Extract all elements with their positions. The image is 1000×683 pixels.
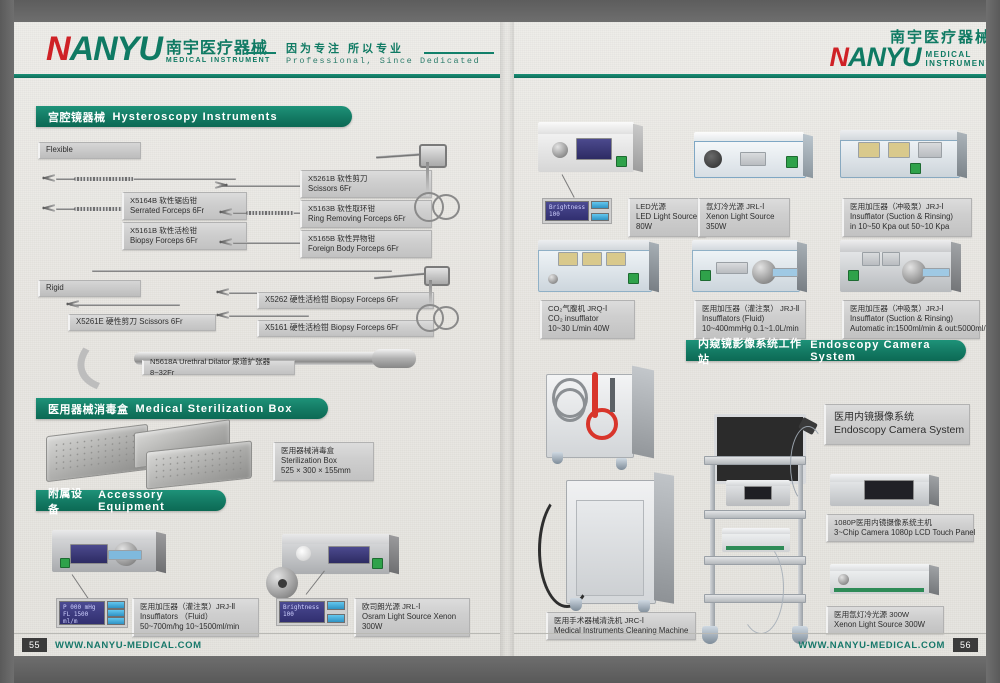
caption-foreign-cn: X5165B 软性异物钳: [308, 234, 425, 244]
section-hysteroscopy-en: Hysteroscopy Instruments: [113, 111, 278, 123]
caption-insufflator-fluid-2: 医用加压器（灌注泵） JRJ-Ⅱ Insufflators (Fluid) 10…: [694, 300, 806, 339]
rigid-long-shaft: [92, 270, 392, 272]
caption-rd4-cn: CO₂气腹机 JRQ-Ⅰ: [548, 304, 628, 314]
caption-rd6-en: Insufflator (Suction & Rinsing): [850, 314, 973, 324]
light-guide-port: [278, 579, 287, 588]
scope-cable: [790, 426, 826, 504]
caption-acc2-spec: 300W: [362, 622, 463, 632]
caption-rd2-en: Xenon Light Source: [706, 212, 783, 222]
slogan-english: Professional, Since Dedicated: [286, 56, 480, 66]
logo-anyu-letters-right: ANYU: [848, 45, 921, 70]
caption-ring-removing: X5163B 软性取环钳 Ring Removing Forceps 6Fr: [300, 200, 432, 228]
caption-foreign-en: Foreign Body Forceps 6Fr: [308, 244, 425, 254]
device-led-light-source: [538, 122, 634, 172]
slogan-rule-right: [424, 52, 494, 54]
tray-perforation-pattern: [53, 432, 141, 474]
readout-pump-lcd: P 000 mHgFL 1500 ml/m: [59, 601, 105, 625]
caption-rd5-cn: 医用加压器（灌注泵） JRJ-Ⅱ: [702, 304, 799, 314]
section-accessory-cn: 附属设备: [48, 485, 91, 517]
readout-pump-keys[interactable]: [107, 601, 125, 625]
catalog-page: N ANYU 南宇医疗器械 MEDICAL INSTRUMENT 因为专注 所以…: [0, 0, 1000, 683]
logo-n-letter-right: N: [830, 45, 849, 70]
instrument-jaw-ring: [219, 208, 233, 217]
caption-biopsy-x5161-text: X5161 硬性活检钳 Biopsy Forceps 6Fr: [265, 323, 398, 333]
caption-acc1-spec: 50~700m/hg 10~1500ml/min: [140, 622, 252, 632]
caption-dilator-text: N5618A Urethral Dilator 尿道扩张器 8~32Fr: [150, 357, 288, 377]
caption-rd4-spec: 10~30 L/min 40W: [548, 324, 628, 334]
callout-line-2: [306, 571, 325, 595]
instrument-jaw-scissors-flex: [214, 181, 228, 190]
readout-brightness-keys[interactable]: [327, 601, 345, 623]
page-number-right: 56: [953, 638, 978, 652]
section-header-accessory: 附属设备 Accessory Equipment: [36, 490, 226, 511]
caption-insufflator-suction-1: 医用加压器（冲吸泵）JRJ-Ⅰ Insufflator (Suction & R…: [842, 198, 972, 237]
caption-insufflator-fluid: 医用加压器（灌注泵）JRJ-Ⅱ Insufflators （Fluid） 50~…: [132, 598, 259, 637]
caption-rd4-en: CO₂ insufflator: [548, 314, 628, 324]
caption-scissors-flex-en: Scissors 6Fr: [308, 184, 425, 194]
caption-xenon-light-source: 氙灯冷光源 JRL-Ⅰ Xenon Light Source 350W: [698, 198, 790, 237]
instrument-jaw-biopsy-x5262: [216, 288, 230, 297]
caption-biopsy-x5262-text: X5262 硬性活检钳 Biopsy Forceps 6Fr: [265, 295, 398, 305]
caption-biopsy-flex-cn: X5161B 软性活检钳: [130, 226, 240, 236]
section-header-hysteroscopy: 宫腔镜器械 Hysteroscopy Instruments: [36, 106, 352, 127]
caption-biopsy-x5262: X5262 硬性活检钳 Biopsy Forceps 6Fr: [257, 292, 434, 309]
caption-chip-cn: 1080P医用内镜摄像系统主机: [834, 518, 967, 528]
caption-light-en: Xenon Light Source 300W: [834, 620, 937, 630]
page-spread: N ANYU 南宇医疗器械 MEDICAL INSTRUMENT 因为专注 所以…: [14, 22, 986, 656]
instrument-jaw-scissors-rigid: [66, 300, 80, 309]
page-gutter: [500, 22, 514, 656]
readout-pump: P 000 mHgFL 1500 ml/m: [56, 598, 128, 628]
device-insufflator-fluid: [52, 530, 157, 572]
caption-sterilization-box: 医用器械消毒盒 Sterilization Box 525 × 300 × 15…: [273, 442, 374, 481]
logo-subtitle-line2: INSTRUMENT: [926, 59, 986, 68]
caption-rd5-spec: 10~400mmHg 0.1~1.0L/min: [702, 324, 799, 334]
callout-line-1: [72, 574, 90, 599]
readout-led-lcd: Brightness 100: [545, 201, 589, 221]
caption-ring-cn: X5163B 软性取环钳: [308, 204, 425, 214]
caption-insufflator-suction-2: 医用加压器（冲吸泵）JRJ-Ⅰ Insufflator (Suction & R…: [842, 300, 980, 339]
device-insufflator-fluid-2: [692, 240, 798, 292]
caption-rd5-en: Insufflators (Fluid): [702, 314, 799, 324]
caption-sterilization-spec: 525 × 300 × 155mm: [281, 466, 367, 476]
instrument-shaft-biopsy-x5161: [229, 315, 309, 317]
caption-rd1-en: LED Light Source: [636, 212, 699, 222]
caption-rd1-spec: 80W: [636, 222, 699, 232]
caption-xenon-300w: 医用氙灯冷光源 300W Xenon Light Source 300W: [826, 606, 944, 634]
device-osram-light-source: [282, 534, 390, 574]
section-header-sterilization: 医用器械消毒盒 Medical Sterilization Box: [36, 398, 328, 419]
caption-foreign-body: X5165B 软性异物钳 Foreign Body Forceps 6Fr: [300, 230, 432, 258]
caption-scissors-flex-cn: X5261B 软性剪刀: [308, 174, 425, 184]
caption-light-cn: 医用氙灯冷光源 300W: [834, 610, 937, 620]
caption-camera-system-main: 医用内镜摄像系统 Endoscopy Camera System: [824, 404, 970, 445]
logo-subtitle: MEDICAL INSTRUMENT: [166, 57, 271, 64]
caption-acc2-en: Osram Light Source Xenon: [362, 612, 463, 622]
tray-base-perforation: [153, 447, 245, 483]
caption-rd3-spec: in 10~50 Kpa out 50~10 Kpa: [850, 222, 965, 232]
section-header-camera-system: 内窥镜影像系统工作站 Endoscopy Camera System: [686, 340, 966, 361]
caption-cam-main-en: Endoscopy Camera System: [834, 424, 961, 438]
brand-logo-left: N ANYU 南宇医疗器械 MEDICAL INSTRUMENT: [46, 34, 271, 64]
right-page-header: 南宇医疗器械 N ANYU MEDICAL INSTRUMENT: [514, 22, 986, 74]
caption-rd2-spec: 350W: [706, 222, 783, 232]
footer-url-left[interactable]: WWW.NANYU-MEDICAL.COM: [55, 640, 202, 651]
tag-rigid: Rigid: [38, 280, 141, 297]
device-xenon-light-source: [694, 132, 804, 178]
frame-bottom: [0, 656, 1000, 683]
section-camera-cn: 内窥镜影像系统工作站: [698, 335, 803, 367]
caption-rd2-cn: 氙灯冷光源 JRL-Ⅰ: [706, 202, 783, 212]
caption-biopsy-x5161: X5161 硬性活检钳 Biopsy Forceps 6Fr: [257, 320, 434, 337]
sterilization-tray-closed: [46, 424, 148, 483]
caption-sterilization-en: Sterilization Box: [281, 456, 367, 466]
cart-light-cable: [738, 542, 784, 634]
readout-led-keys[interactable]: [591, 201, 609, 221]
cart-camera-unit: [726, 480, 790, 506]
logo-chinese: 南宇医疗器械: [166, 41, 271, 57]
header-rule-right: [514, 74, 986, 78]
callout-line-3: [562, 174, 575, 197]
section-accessory-en: Accessory Equipment: [98, 489, 226, 513]
caption-rd3-en: Insufflator (Suction & Rinsing): [850, 212, 965, 222]
instrument-coil-ring: [246, 211, 294, 215]
caption-rd6-cn: 医用加压器（冲吸泵）JRJ-Ⅰ: [850, 304, 973, 314]
section-hysteroscopy-cn: 宫腔镜器械: [48, 109, 106, 125]
caption-co2-insufflator: CO₂气腹机 JRQ-Ⅰ CO₂ insufflator 10~30 L/min…: [540, 300, 635, 339]
instrument-jaw-biopsy-x5161: [216, 311, 230, 320]
tag-rigid-label: Rigid: [46, 283, 64, 293]
caption-cleaning-en: Medical Instruments Cleaning Machine: [554, 626, 689, 636]
caption-rd6-spec: Automatic in:1500ml/min & out:5000ml/min: [850, 324, 973, 334]
device-xenon-300w: [830, 564, 930, 594]
caption-serrated-cn: X5164B 软性锯齿钳: [130, 196, 240, 206]
device-insufflator-suction-2: [840, 240, 952, 292]
readout-led-brightness: Brightness 100: [542, 198, 612, 224]
caption-cleaning-cn: 医用手术器械清洗机 JRC-Ⅰ: [554, 616, 689, 626]
caption-osram-light: 欧司朗光源 JRL-Ⅰ Osram Light Source Xenon 300…: [354, 598, 470, 637]
frame-right: [986, 0, 1000, 683]
readout-brightness-lcd: Brightness 100: [279, 601, 325, 623]
cart-shelf-2: [704, 510, 806, 519]
section-sterilization-cn: 医用器械消毒盒: [48, 401, 129, 417]
footer-right: WWW.NANYU-MEDICAL.COM 56: [678, 634, 978, 656]
section-camera-en: Endoscopy Camera System: [810, 339, 966, 363]
device-1080p-camera: [830, 474, 930, 506]
instrument-shaft-scissors-rigid: [70, 304, 180, 306]
header-rule-left: [14, 74, 500, 78]
caption-acc1-en: Insufflators （Fluid）: [140, 612, 252, 622]
caption-sterilization-cn: 医用器械消毒盒: [281, 446, 367, 456]
device-co2-insufflator: [538, 240, 650, 292]
tag-flexible: Flexible: [38, 142, 141, 159]
instrument-jaw-foreign-body: [219, 238, 233, 247]
footer-left: 55 WWW.NANYU-MEDICAL.COM: [22, 634, 322, 656]
caption-ring-en: Ring Removing Forceps 6Fr: [308, 214, 425, 224]
caption-cleaning-machine: 医用手术器械清洗机 JRC-Ⅰ Medical Instruments Clea…: [546, 612, 696, 640]
section-sterilization-en: Medical Sterilization Box: [136, 403, 293, 415]
device-insufflator-suction-1: [840, 130, 958, 178]
caption-acc2-cn: 欧司朗光源 JRL-Ⅰ: [362, 602, 463, 612]
logo-subtitle-line1: MEDICAL: [926, 50, 986, 59]
readout-brightness: Brightness 100: [276, 598, 348, 626]
cart-post-left: [710, 456, 715, 632]
page-number-left: 55: [22, 638, 47, 652]
caption-acc1-cn: 医用加压器（灌注泵）JRJ-Ⅱ: [140, 602, 252, 612]
instrument-jaw-serrated: [42, 174, 56, 183]
caption-led-light-source: LED光源 LED Light Source 80W: [628, 198, 706, 237]
footer-url-right[interactable]: WWW.NANYU-MEDICAL.COM: [798, 640, 945, 651]
left-page-header: N ANYU 南宇医疗器械 MEDICAL INSTRUMENT 因为专注 所以…: [14, 22, 500, 74]
caption-rd1-cn: LED光源: [636, 202, 699, 212]
brand-logo-right: 南宇医疗器械 N ANYU MEDICAL INSTRUMENT: [830, 30, 986, 70]
tag-flexible-label: Flexible: [46, 145, 73, 155]
logo-anyu-letters: ANYU: [70, 34, 162, 64]
caption-urethral-dilator: N5618A Urethral Dilator 尿道扩张器 8~32Fr: [142, 360, 295, 375]
frame-top: [0, 0, 1000, 22]
logo-n-letter: N: [46, 34, 70, 64]
caption-rd3-cn: 医用加压器（冲吸泵）JRJ-Ⅰ: [850, 202, 965, 212]
instrument-jaw-biopsy-flex: [42, 204, 56, 213]
caption-scissors-flex: X5261B 软性剪刀 Scissors 6Fr: [300, 170, 432, 198]
caption-cam-main-cn: 医用内镜摄像系统: [834, 411, 961, 424]
slogan-rule-left: [246, 52, 276, 54]
caption-chip-en: 3~Chip Camera 1080p LCD Touch Panel: [834, 528, 967, 538]
caption-1080p-camera: 1080P医用内镜摄像系统主机 3~Chip Camera 1080p LCD …: [826, 514, 974, 542]
instrument-coil-serrated: [74, 177, 134, 181]
frame-left: [0, 0, 14, 683]
